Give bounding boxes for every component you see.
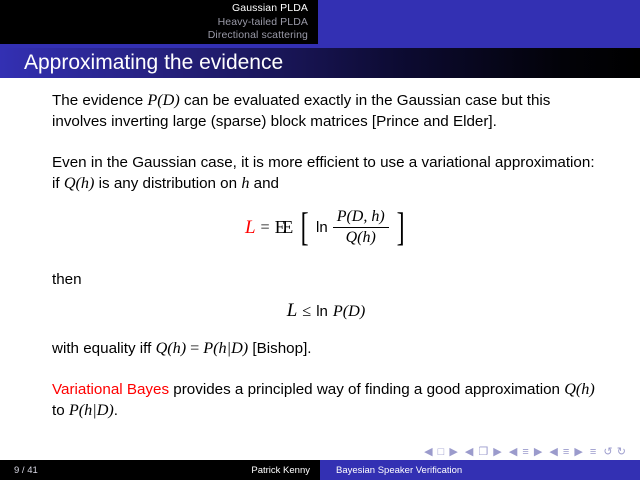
section-navigation[interactable]: Gaussian PLDA Heavy-tailed PLDA Directio… (0, 2, 308, 43)
beamer-navigation-symbols[interactable]: ◀ □ ▶ ◀ ❐ ▶ ◀ ≡ ▶ ◀ ≡ ▶ ≡ ↺ ↻ (423, 445, 628, 458)
paragraph-vb-text-1: provides a principled way of finding a g… (169, 381, 564, 398)
paragraph-variational-bayes: Variational Bayes provides a principled … (52, 379, 600, 421)
paragraph-evidence: The evidence P(D) can be evaluated exact… (52, 90, 600, 132)
nav-symbol-presentation-icon[interactable]: ≡ (589, 446, 598, 458)
paragraph-equality-text-2: [Bishop]. (248, 340, 311, 357)
math-q-of-h-3: Q(h) (564, 380, 595, 398)
math-q-of-h-2: Q(h) (156, 339, 187, 357)
math-fraction-denominator: Q(h) (333, 227, 389, 247)
math-blackboard-E: EE (275, 217, 293, 238)
slide-footer-bar: 9 / 41 Patrick Kenny Bayesian Speaker Ve… (0, 460, 640, 480)
math-equals-sign-2: = (186, 339, 203, 357)
math-script-L-alert: L (245, 217, 256, 239)
then-label: then (52, 269, 600, 290)
math-bracket-open: [ (300, 211, 308, 244)
math-ln-operator: ln (316, 219, 328, 236)
equation-inequality: L ≤ ln P(D) (52, 300, 600, 322)
frame-title-bar: Approximating the evidence (0, 48, 640, 78)
paragraph-equality-text-1: with equality iff (52, 340, 156, 357)
math-p-h-given-d: P(h|D) (203, 339, 248, 357)
math-bracket-close: ] (396, 211, 404, 244)
math-p-of-d-2: P(D) (333, 302, 365, 321)
paragraph-variational-text-3: and (249, 175, 279, 192)
footer-author: Patrick Kenny (0, 465, 310, 476)
paragraph-vb-text-2: to (52, 402, 69, 419)
nav-item-heavy-tailed-plda[interactable]: Heavy-tailed PLDA (0, 16, 308, 30)
page-title: Approximating the evidence (24, 51, 283, 75)
math-fraction: P(D, h) Q(h) (333, 208, 389, 247)
alert-variational-bayes: Variational Bayes (52, 381, 169, 398)
math-fraction-numerator: P(D, h) (333, 208, 389, 227)
paragraph-variational: Even in the Gaussian case, it is more ef… (52, 152, 600, 194)
equation-lower-bound: L = EE [ ln P(D, h) Q(h) ] (52, 208, 600, 247)
footer-talk-title: Bayesian Speaker Verification (336, 465, 462, 476)
slide-content: The evidence P(D) can be evaluated exact… (52, 90, 600, 421)
slide-header-bar: Gaussian PLDA Heavy-tailed PLDA Directio… (0, 0, 640, 44)
math-leq-sign: ≤ (302, 302, 311, 321)
paragraph-evidence-text-1: The evidence (52, 92, 147, 109)
math-equals-sign: = (261, 218, 270, 237)
math-p-of-d: P(D) (147, 91, 179, 109)
paragraph-vb-text-3: . (114, 402, 118, 419)
paragraph-variational-text-2: is any distribution on (94, 175, 241, 192)
nav-symbol-slide-icon[interactable]: ◀ □ ▶ (423, 446, 460, 458)
nav-item-directional-scattering[interactable]: Directional scattering (0, 29, 308, 43)
nav-item-gaussian-plda[interactable]: Gaussian PLDA (0, 2, 308, 16)
nav-symbol-frame-icon[interactable]: ◀ ❐ ▶ (464, 446, 504, 458)
math-script-L: L (287, 300, 298, 322)
math-q-of-h: Q(h) (64, 174, 95, 192)
math-p-h-given-d-2: P(h|D) (69, 401, 114, 419)
nav-symbol-subsection-icon[interactable]: ◀ ≡ ▶ (508, 446, 544, 458)
math-ln-operator-2: ln (316, 303, 328, 320)
nav-symbol-section-icon[interactable]: ◀ ≡ ▶ (548, 446, 584, 458)
nav-symbol-back-forward-icon[interactable]: ↺ ↻ (602, 446, 628, 458)
paragraph-equality: with equality iff Q(h)=P(h|D) [Bishop]. (52, 338, 600, 359)
